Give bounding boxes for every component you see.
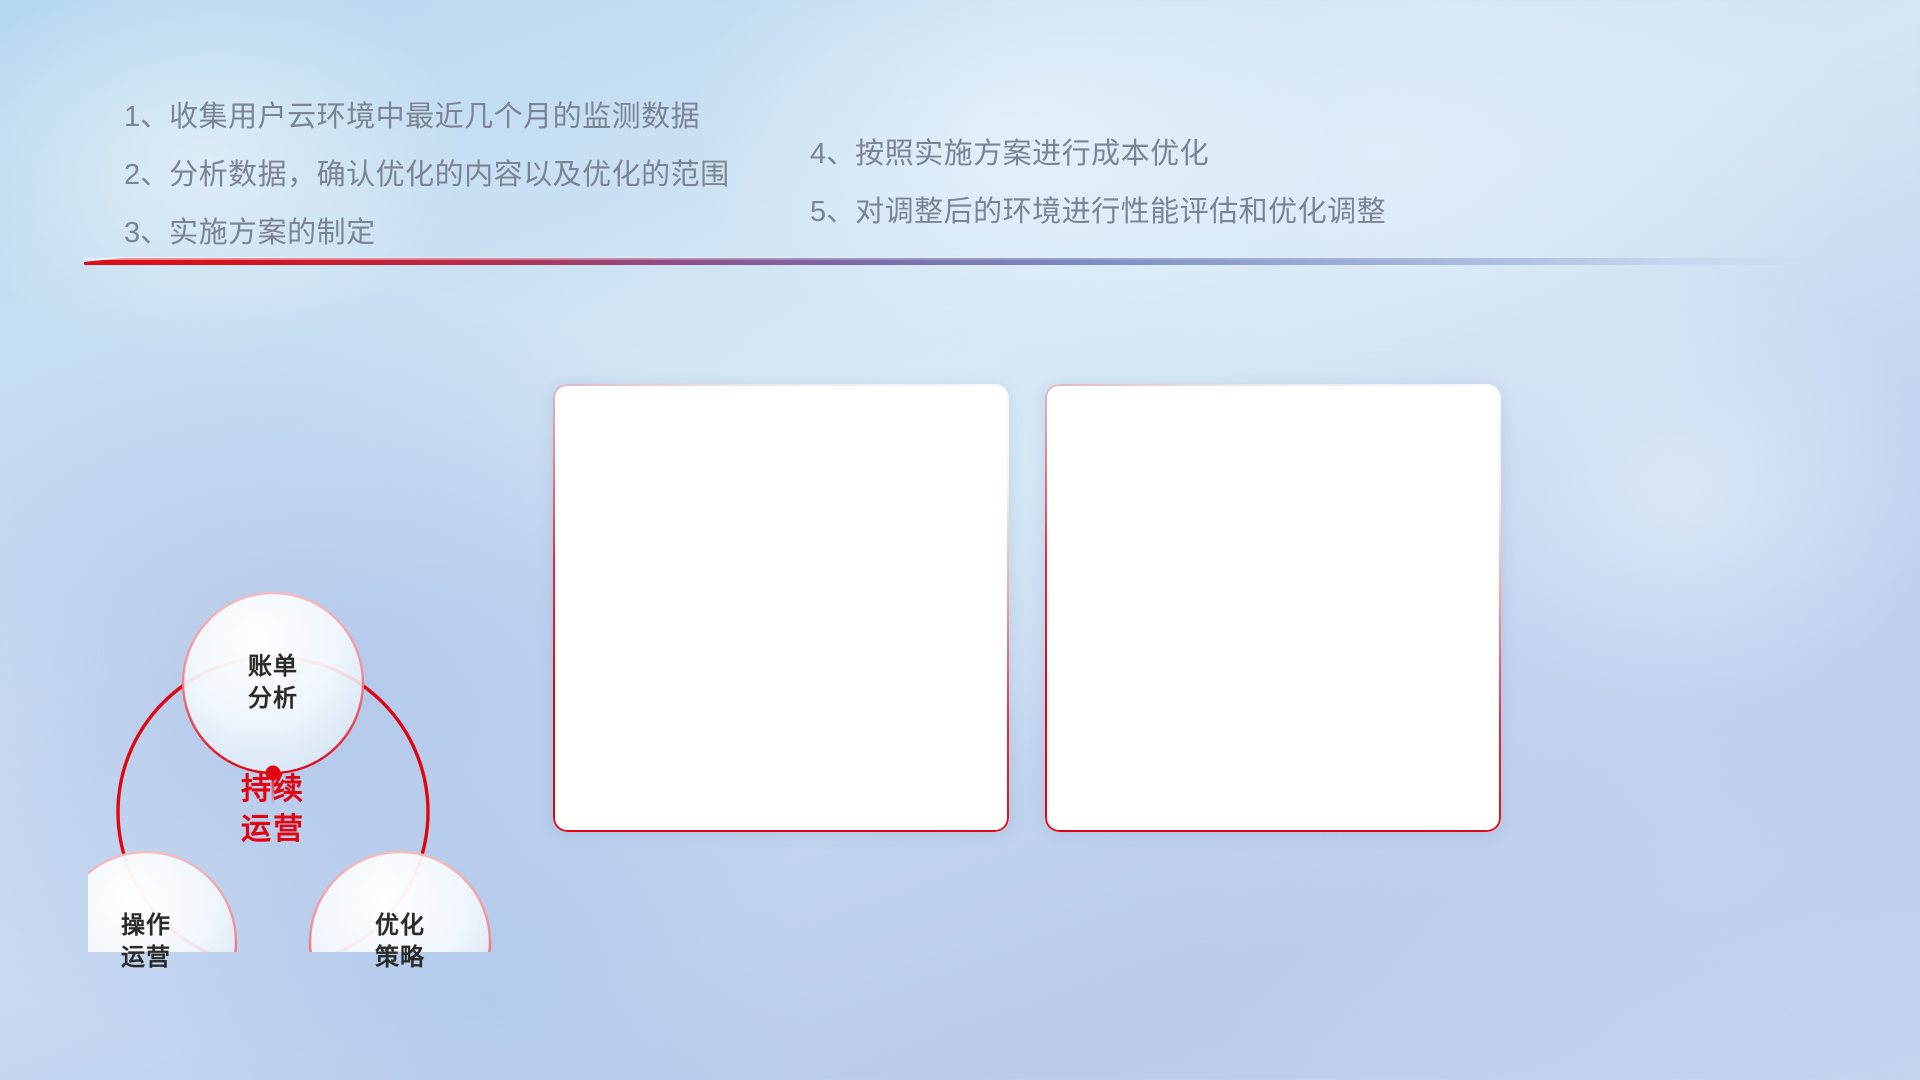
venn-label-optimization-strategy: 优化 策略 [335, 910, 465, 974]
steps-section: 1、收集用户云环境中最近几个月的监测数据 2、分析数据，确认优化的内容以及优化的… [0, 88, 1920, 268]
card-accent-rule [1075, 664, 1475, 672]
card-accent-bar [1075, 666, 1475, 672]
feature-card-multicloud-billing[interactable]: 获取主流的各个公有云厂商的账单，对账单进行拆分、分享，使得云成本可以做到透明和可… [553, 384, 1009, 832]
step-number: 3、 [124, 217, 169, 249]
venn-center-line1: 持续 [193, 770, 353, 810]
card-title: 多云账单管理平台 [583, 729, 979, 791]
card-description: 对用户的账单进行分析，通过匹配价格模型、监控管理、应用优化等多少段实现对用云成本… [1075, 436, 1471, 637]
step-item: 4、按照实施方案进行成本优化 [810, 125, 1386, 183]
venn-label-operations: 操作 运营 [81, 910, 211, 974]
step-item: 5、对调整后的环境进行性能评估和优化调整 [810, 183, 1386, 241]
steps-right-column: 4、按照实施方案进行成本优化 5、对调整后的环境进行性能评估和优化调整 [810, 125, 1386, 241]
venn-center-line2: 运营 [193, 810, 353, 850]
step-number: 4、 [810, 138, 855, 170]
card-accent-bar [583, 666, 983, 672]
card-title: 用云成本优化 [1075, 729, 1471, 791]
step-number: 2、 [124, 159, 169, 191]
feature-card-cloud-cost-optimization[interactable]: 对用户的账单进行分析，通过匹配价格模型、监控管理、应用优化等多少段实现对用云成本… [1045, 384, 1501, 832]
venn-label-line2: 分析 [208, 683, 338, 715]
venn-center-label: 持续 运营 [193, 770, 353, 850]
step-number: 1、 [124, 101, 169, 133]
step-text: 收集用户云环境中最近几个月的监测数据 [169, 101, 700, 133]
step-text: 实施方案的制定 [169, 217, 376, 249]
step-number: 5、 [810, 196, 855, 228]
venn-label-line2: 策略 [335, 942, 465, 974]
venn-label-billing-analysis: 账单 分析 [208, 651, 338, 715]
divider-highlight [84, 257, 1814, 260]
card-accent-rule [583, 664, 983, 672]
step-item: 1、收集用户云环境中最近几个月的监测数据 [124, 88, 730, 146]
step-item: 2、分析数据，确认优化的内容以及优化的范围 [124, 146, 730, 204]
step-text: 对调整后的环境进行性能评估和优化调整 [855, 196, 1386, 228]
venn-label-line1: 账单 [208, 651, 338, 683]
venn-label-line1: 优化 [335, 910, 465, 942]
step-text: 分析数据，确认优化的内容以及优化的范围 [169, 159, 730, 191]
section-divider [84, 254, 1814, 268]
venn-label-line1: 操作 [81, 910, 211, 942]
card-description: 获取主流的各个公有云厂商的账单，对账单进行拆分、分享，使得云成本可以做到透明和可… [583, 436, 979, 637]
venn-label-line2: 运营 [81, 942, 211, 974]
step-text: 按照实施方案进行成本优化 [855, 138, 1209, 170]
steps-left-column: 1、收集用户云环境中最近几个月的监测数据 2、分析数据，确认优化的内容以及优化的… [124, 88, 730, 262]
